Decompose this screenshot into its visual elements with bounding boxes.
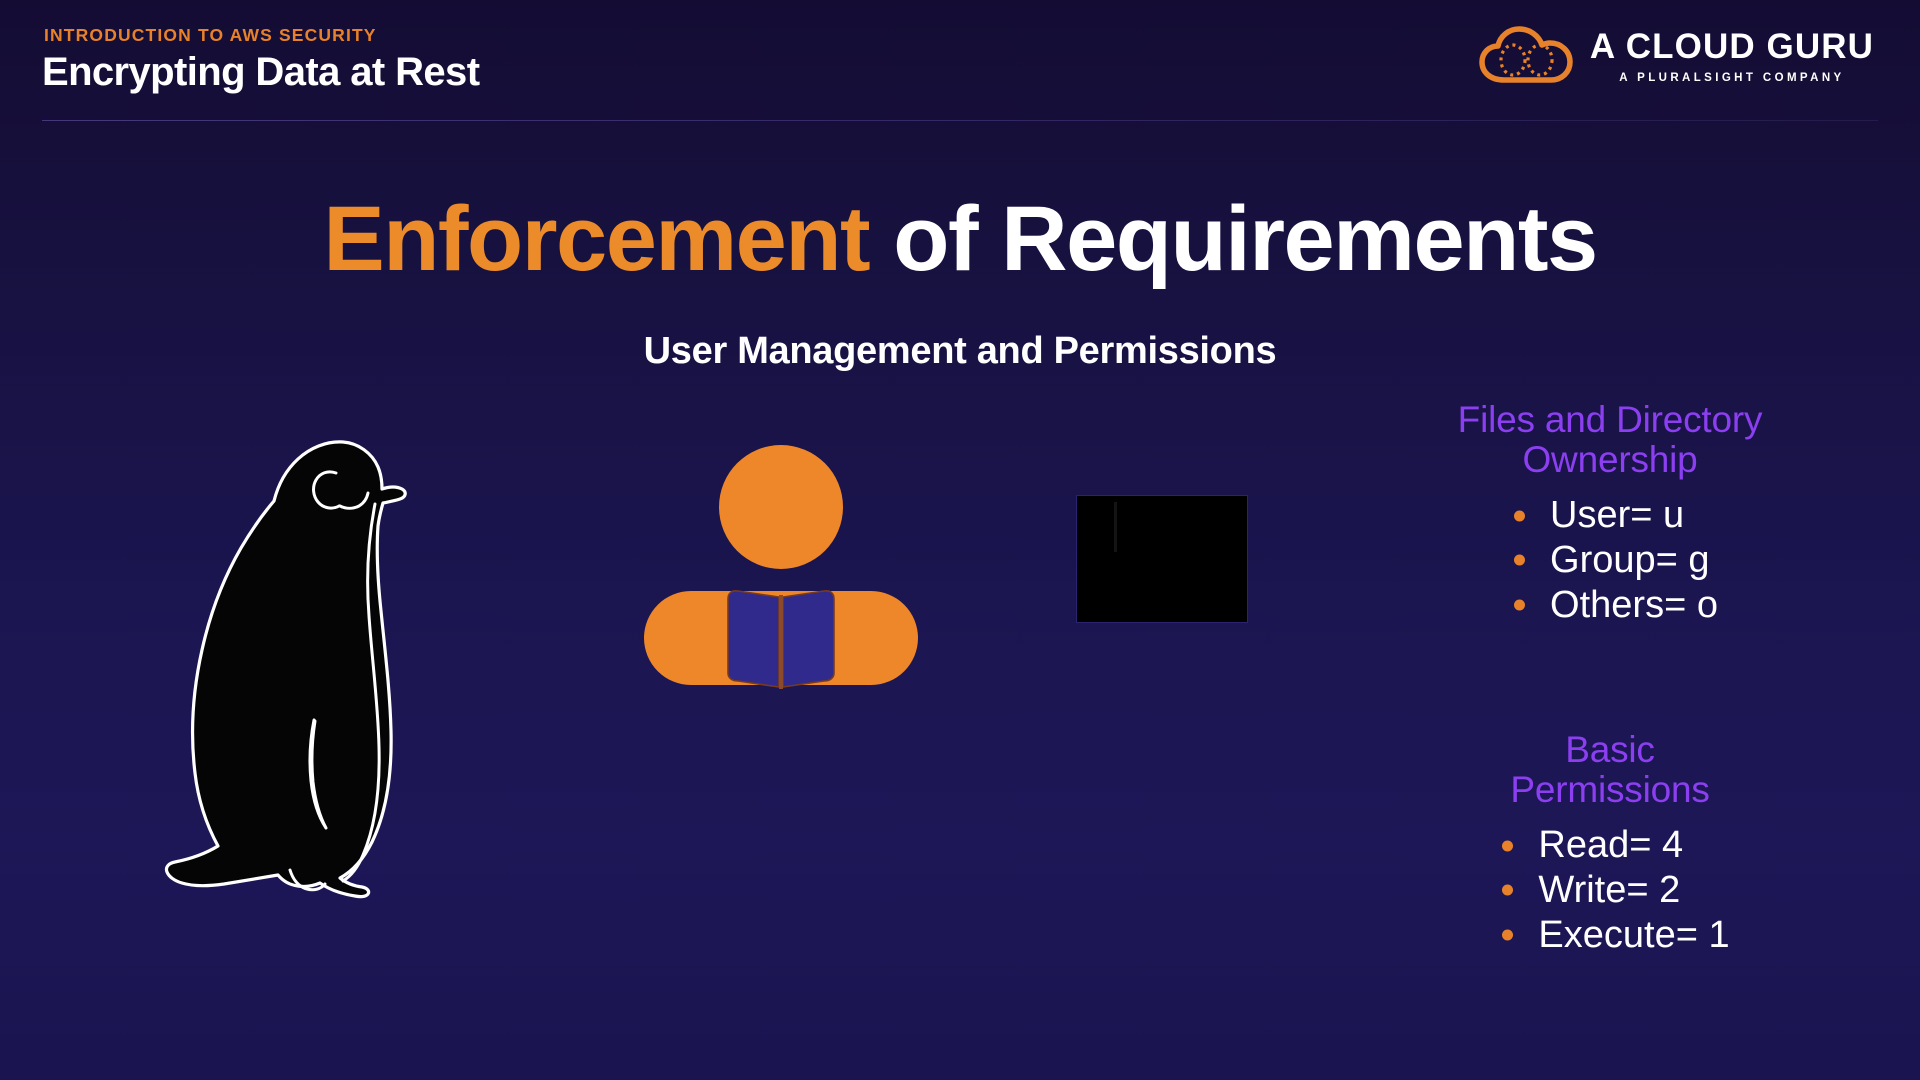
bullet-dot-icon <box>1514 510 1525 521</box>
list-item-label: Execute= 1 <box>1538 914 1729 956</box>
list-item-label: Group= g <box>1550 539 1710 581</box>
bullet-dot-icon <box>1502 840 1513 851</box>
slide-header: INTRODUCTION TO AWS SECURITY Encrypting … <box>0 0 1920 122</box>
panel-heading-line-2: Ownership <box>1400 440 1820 480</box>
permissions-bullet-list: Read= 4 Write= 2 Execute= 1 <box>1490 823 1729 957</box>
slide-canvas: INTRODUCTION TO AWS SECURITY Encrypting … <box>0 0 1920 1080</box>
slide-title-rest: of Requirements <box>869 188 1596 290</box>
linux-penguin-icon <box>150 430 450 900</box>
slide-title-accent: Enforcement <box>323 188 869 290</box>
list-item: Read= 4 <box>1490 823 1729 868</box>
list-item-label: Others= o <box>1550 584 1718 626</box>
list-item: Write= 2 <box>1490 868 1729 913</box>
open-book-shape <box>728 591 834 689</box>
list-item: Group= g <box>1502 538 1718 583</box>
terminal-window-icon <box>1076 495 1248 623</box>
bullet-dot-icon <box>1502 885 1513 896</box>
panel-basic-permissions: Basic Permissions Read= 4 Write= 2 Execu… <box>1400 730 1820 958</box>
panel-heading-line-1: Basic <box>1565 729 1654 770</box>
panel-files-and-directory-ownership: Files and Directory Ownership User= u Gr… <box>1400 400 1820 628</box>
panel-heading: Basic Permissions <box>1400 730 1820 809</box>
panel-heading-line-2: Permissions <box>1400 770 1820 810</box>
slide-subtitle: User Management and Permissions <box>0 330 1920 373</box>
logo-tagline: A PLURALSIGHT COMPANY <box>1619 72 1844 84</box>
list-item-label: Write= 2 <box>1538 869 1680 911</box>
logo-wordmark: A CLOUD GURU A PLURALSIGHT COMPANY <box>1590 29 1874 84</box>
ownership-bullet-list: User= u Group= g Others= o <box>1502 493 1718 627</box>
bullet-dot-icon <box>1514 555 1525 566</box>
list-item-label: Read= 4 <box>1538 824 1683 866</box>
list-item: Execute= 1 <box>1490 913 1729 958</box>
bullet-dot-icon <box>1514 600 1525 611</box>
list-item-label: User= u <box>1550 494 1684 536</box>
cloud-guru-cloud-icon <box>1478 24 1574 88</box>
panel-heading-line-1: Files and Directory <box>1458 399 1763 440</box>
deck-title: Encrypting Data at Rest <box>42 50 479 95</box>
header-divider <box>42 120 1878 121</box>
list-item: Others= o <box>1502 583 1718 628</box>
user-head-shape <box>719 445 843 569</box>
list-item: User= u <box>1502 493 1718 538</box>
user-with-book-icon <box>636 445 926 695</box>
panel-heading: Files and Directory Ownership <box>1400 400 1820 479</box>
slide-title: Enforcement of Requirements <box>0 190 1920 289</box>
bullet-dot-icon <box>1502 930 1513 941</box>
terminal-cursor <box>1114 502 1117 552</box>
logo-brand-name: A CLOUD GURU <box>1590 29 1874 64</box>
a-cloud-guru-logo: A CLOUD GURU A PLURALSIGHT COMPANY <box>1478 20 1874 92</box>
course-eyebrow-label: INTRODUCTION TO AWS SECURITY <box>44 25 377 46</box>
